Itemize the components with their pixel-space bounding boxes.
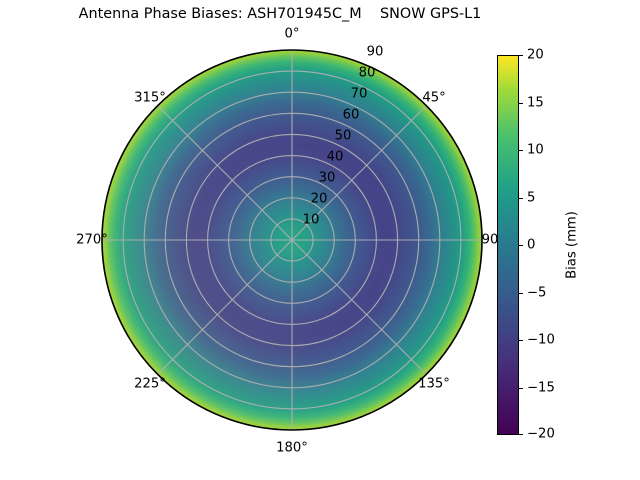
colorbar-ticklabel-m5: −5 xyxy=(527,285,546,300)
colorbar-tickmark-0 xyxy=(519,245,523,246)
angular-tick-180: 180° xyxy=(276,441,308,456)
radial-tick-30: 30 xyxy=(319,171,336,186)
radial-tick-90: 90 xyxy=(367,45,384,60)
colorbar-ticklabel-5: 5 xyxy=(527,190,535,205)
radial-tick-40: 40 xyxy=(327,150,344,165)
colorbar-ticklabel-0: 0 xyxy=(527,238,535,253)
angular-tick-0: 0° xyxy=(285,27,300,42)
colorbar-tickmark-m20 xyxy=(519,434,523,435)
colorbar-tickmark-m5 xyxy=(519,293,523,294)
polar-angular-gridlines xyxy=(102,50,482,430)
colorbar-ticklabel-m20: −20 xyxy=(527,427,555,442)
colorbar-tickmark-m10 xyxy=(519,340,523,341)
colorbar-ticklabel-m15: −15 xyxy=(527,380,555,395)
angular-tick-270: 270° xyxy=(76,233,108,248)
colorbar-ticklabel-m10: −10 xyxy=(527,333,555,348)
colorbar-tickmark-20 xyxy=(519,55,523,56)
radial-tick-60: 60 xyxy=(343,108,360,123)
page-title: Antenna Phase Biases: ASH701945C_M SNOW … xyxy=(0,6,560,22)
colorbar-ticklabel-10: 10 xyxy=(527,143,544,158)
radial-tick-10: 10 xyxy=(303,213,320,228)
colorbar: 20 15 10 5 0 −5 −10 −15 −20 Bias (mm) xyxy=(497,55,617,435)
colorbar-tickmark-m15 xyxy=(519,388,523,389)
radial-tick-70: 70 xyxy=(351,87,368,102)
colorbar-ticklabel-20: 20 xyxy=(527,48,544,63)
polar-chart-figure: Antenna Phase Biases: ASH701945C_M SNOW … xyxy=(0,0,640,480)
angular-tick-45: 45° xyxy=(422,91,445,106)
radial-tick-20: 20 xyxy=(311,192,328,207)
colorbar-tickmark-15 xyxy=(519,103,523,104)
angular-tick-135: 135° xyxy=(418,377,450,392)
radial-tick-80: 80 xyxy=(359,66,376,81)
colorbar-tickmark-10 xyxy=(519,150,523,151)
colorbar-gradient xyxy=(497,55,519,435)
colorbar-axis-label: Bias (mm) xyxy=(565,211,580,279)
angular-tick-90: 90 xyxy=(482,233,499,248)
angular-tick-225: 225° xyxy=(134,377,166,392)
radial-tick-50: 50 xyxy=(335,129,352,144)
colorbar-ticklabel-15: 15 xyxy=(527,95,544,110)
angular-tick-315: 315° xyxy=(134,91,166,106)
colorbar-tickmark-5 xyxy=(519,198,523,199)
polar-axes: 0° 45° 90 135° 180° 225° 270° 315° 10 20… xyxy=(96,44,488,436)
